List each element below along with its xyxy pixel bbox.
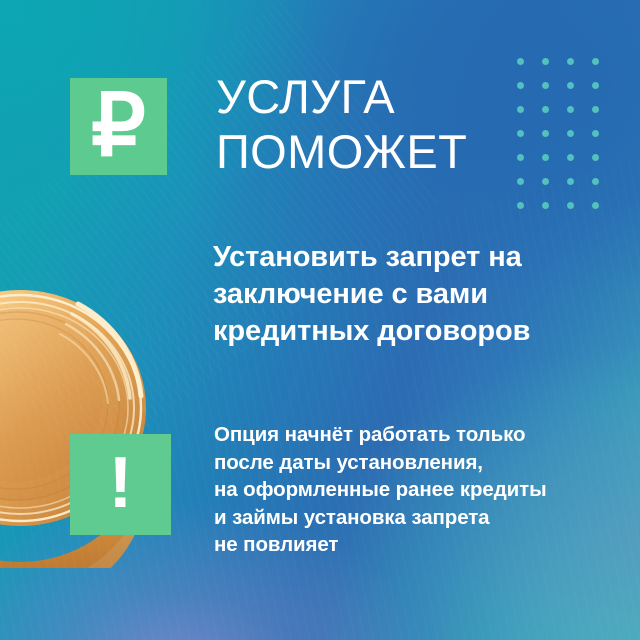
headline-line-2: ПОМОЖЕТ bbox=[216, 124, 516, 179]
exclamation-icon: ! bbox=[109, 447, 133, 519]
body-line-4: и займы установка запрета bbox=[214, 504, 614, 532]
subheading-line-2: заключение с вами bbox=[213, 276, 613, 313]
headline-line-1: УСЛУГА bbox=[216, 69, 516, 124]
subheading-line-3: кредитных договоров bbox=[213, 313, 613, 350]
subheading: Установить запрет на заключение с вами к… bbox=[213, 239, 613, 350]
body-copy: Опция начнёт работать только после даты … bbox=[214, 421, 614, 559]
subheading-line-1: Установить запрет на bbox=[213, 239, 613, 276]
body-line-2: после даты установления, bbox=[214, 449, 614, 477]
headline: УСЛУГА ПОМОЖЕТ bbox=[216, 69, 516, 179]
body-line-3: на оформленные ранее кредиты bbox=[214, 476, 614, 504]
body-line-1: Опция начнёт работать только bbox=[214, 421, 614, 449]
alert-badge: ! bbox=[70, 434, 171, 535]
body-line-5: не повлияет bbox=[214, 531, 614, 559]
promo-poster: ₽ УСЛУГА ПОМОЖЕТ Установить запрет на за… bbox=[0, 0, 640, 640]
ruble-logo-badge: ₽ bbox=[70, 78, 167, 175]
ruble-icon: ₽ bbox=[91, 83, 146, 169]
